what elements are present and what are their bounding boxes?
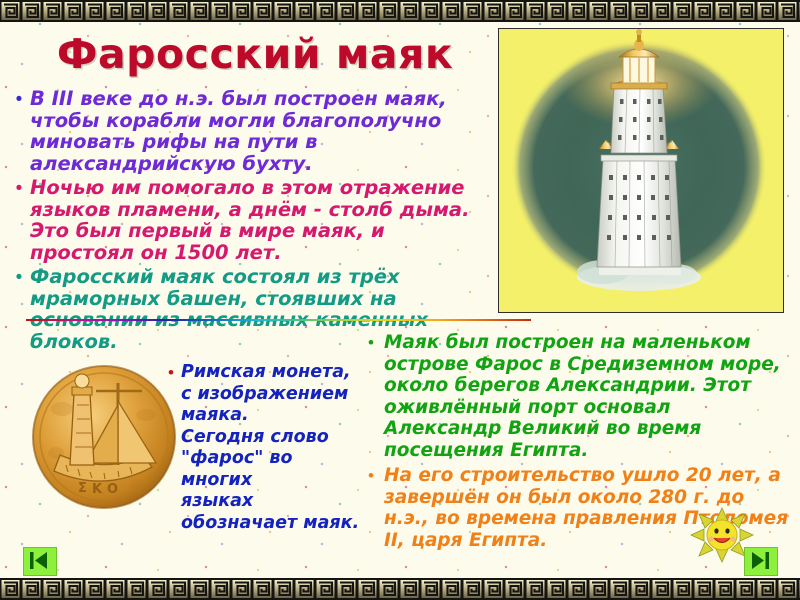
list-item-label: маяка.: [181, 405, 368, 427]
greek-meander-border-bottom: [0, 578, 800, 600]
bottom-left-text-block: • Римская монета, с изображением маяка. …: [168, 362, 368, 534]
lighthouse-illustration: [498, 28, 784, 313]
list-item: • В III веке до н.э. был построен маяк, …: [8, 88, 490, 174]
rainbow-divider: [26, 319, 531, 321]
svg-text:K: K: [92, 482, 103, 497]
bullet-dot-icon: •: [168, 362, 181, 383]
page-title: Фаросский маяк: [20, 30, 490, 78]
list-item: • Ночью им помогало в этом отражение язы…: [8, 177, 490, 263]
greek-meander-border-top: [0, 0, 800, 22]
list-item-label: Сегодня слово: [181, 427, 368, 449]
list-item: • Маяк был построен на маленьком острове…: [358, 332, 792, 461]
svg-text:O: O: [107, 482, 118, 497]
list-item-label: Римская монета,: [181, 362, 368, 384]
bullet-dot-icon: •: [358, 332, 384, 354]
list-item-label: обозначает маяк.: [181, 513, 368, 535]
presentation-slide: Фаросский маяк • В III веке до н.э. был …: [0, 0, 800, 600]
bullet-dot-icon: •: [8, 266, 30, 289]
list-item-label: В III веке до н.э. был построен маяк, чт…: [30, 88, 490, 174]
emphasis-text: Фарос: [475, 354, 543, 375]
list-item-label: Ночью им помогало в этом отражение языко…: [30, 177, 490, 263]
list-item: • Римская монета,: [168, 362, 368, 384]
top-bullet-list: • В III веке до н.э. был построен маяк, …: [8, 88, 490, 355]
svg-text:Σ: Σ: [78, 481, 87, 496]
nav-next-button[interactable]: [744, 547, 778, 576]
list-item-label: с изображением: [181, 384, 368, 406]
list-item-label: "фарос" во многих: [181, 448, 368, 491]
nav-previous-button[interactable]: [23, 547, 57, 576]
roman-coin-photo: Σ K O: [26, 357, 182, 513]
list-item-label: Маяк был построен на маленьком острове Ф…: [384, 332, 792, 461]
list-item-label: языках: [181, 491, 368, 513]
bullet-dot-icon: •: [8, 88, 30, 111]
bullet-dot-icon: •: [8, 177, 30, 200]
